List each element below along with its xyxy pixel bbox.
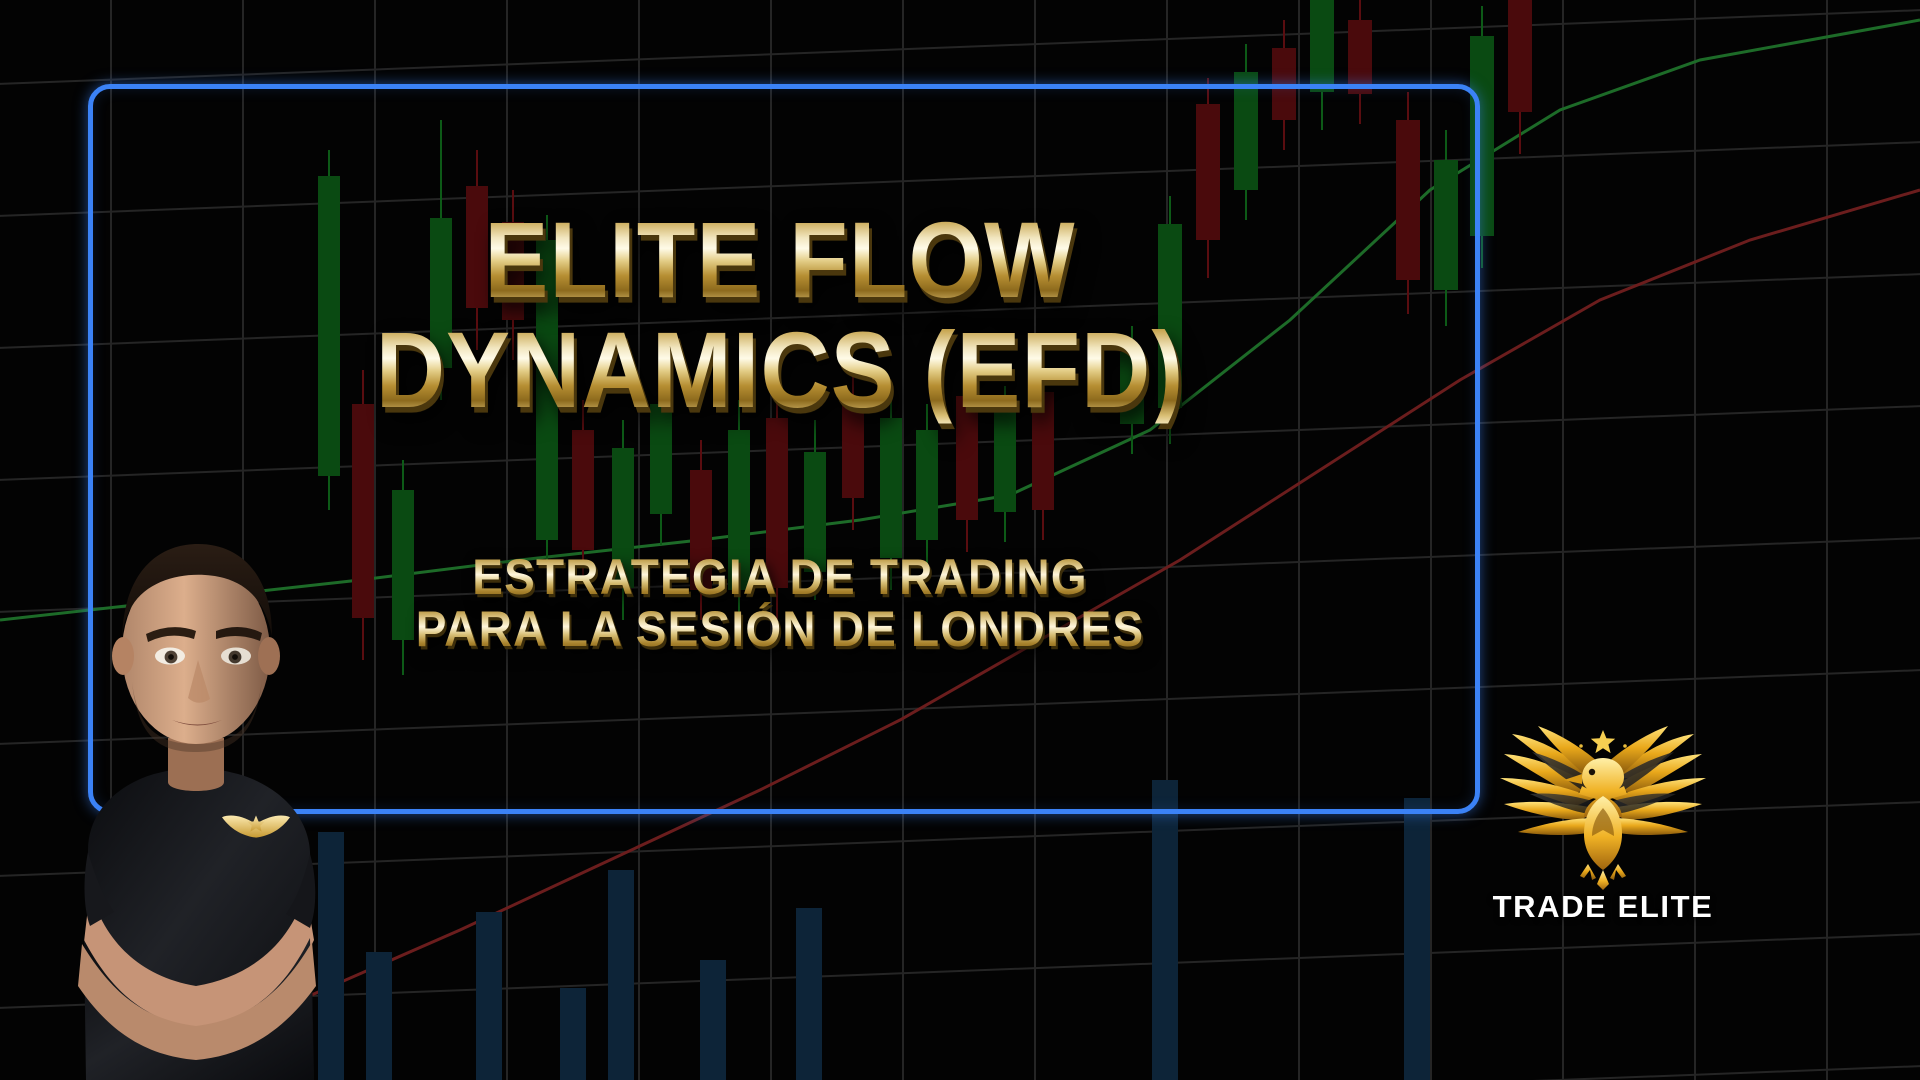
title-line-1: ELITE FLOW	[330, 208, 1230, 313]
brand-name: TRADE ELITE	[1478, 889, 1728, 925]
subtitle-line-2: PARA LA SESIÓN DE LONDRES	[330, 601, 1230, 657]
candle-body	[1348, 20, 1372, 94]
candle-body	[1508, 0, 1532, 112]
title-block: ELITE FLOW DYNAMICS (EFD)	[330, 214, 1230, 418]
subtitle-line-1: ESTRATEGIA DE TRADING	[330, 550, 1230, 606]
candle-body	[1310, 0, 1334, 92]
title-line-2: DYNAMICS (EFD)	[330, 318, 1230, 423]
presenter-photo	[28, 420, 368, 1080]
eagle-icon	[1478, 700, 1728, 890]
thumbnail-canvas: ELITE FLOW DYNAMICS (EFD) ESTRATEGIA DE …	[0, 0, 1920, 1080]
subtitle-block: ESTRATEGIA DE TRADING PARA LA SESIÓN DE …	[330, 552, 1230, 655]
brand-logo: TRADE ELITE	[1478, 700, 1728, 925]
